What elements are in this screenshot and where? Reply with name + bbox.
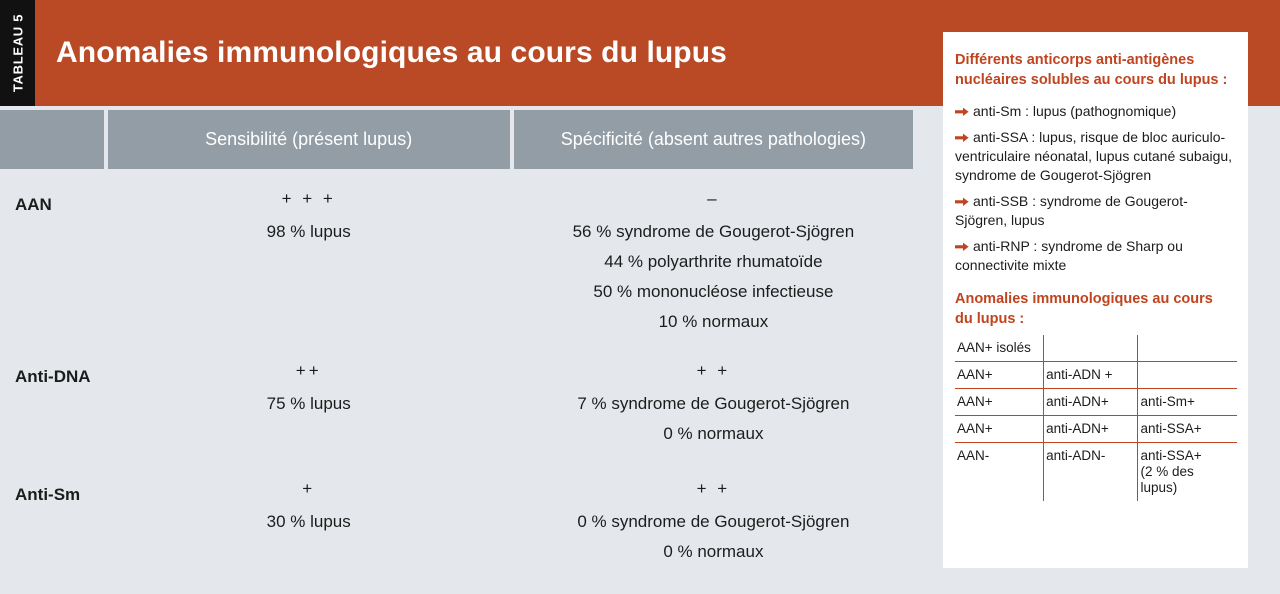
table-row: AAN+ anti-ADN + [955,362,1237,389]
table-row: AAN+ isolés [955,335,1237,362]
table-row: AAN- anti-ADN- anti-SSA+ (2 % des lupus) [955,443,1237,502]
side-panel-mini-table: AAN+ isolés AAN+ anti-ADN + AAN+ anti-AD… [955,335,1237,501]
main-table: Sensibilité (présent lupus) Spécificité … [0,110,913,594]
mini-cell-aan: AAN+ [955,362,1044,389]
cell-anti-dna-specificite: + + 7 % syndrome de Gougerot-Sjögren 0 %… [514,345,913,459]
mini-cell-other [1138,335,1237,362]
score-value: ++ [296,361,322,381]
cell-aan-sensibilite: + + + 98 % lupus [108,173,510,341]
mini-cell-aan: AAN- [955,443,1044,502]
score-value: + [302,479,315,499]
mini-cell-adn: anti-ADN+ [1044,416,1138,443]
arrow-bullet-icon [955,128,969,147]
mini-cell-adn: anti-ADN- [1044,443,1138,502]
table-row: AAN + + + 98 % lupus – 56 % syndrome de … [0,173,913,341]
row-label-aan: AAN [0,173,104,341]
detail-line: 56 % syndrome de Gougerot-Sjögren [573,217,855,247]
mini-cell-other: anti-SSA+ (2 % des lupus) [1138,443,1237,502]
table-row: AAN+ anti-ADN+ anti-SSA+ [955,416,1237,443]
detail-line: 44 % polyarthrite rhumatoïde [604,247,822,277]
score-value: + + [697,361,731,381]
table-row: AAN+ anti-ADN+ anti-Sm+ [955,389,1237,416]
detail-line: 75 % lupus [267,389,351,419]
list-item: anti-RNP : syndrome de Sharp ou connecti… [955,237,1234,275]
mini-cell-aan: AAN+ [955,416,1044,443]
cell-aan-specificite: – 56 % syndrome de Gougerot-Sjögren 44 %… [514,173,913,341]
detail-line: 30 % lupus [267,507,351,537]
mini-cell-aan: AAN+ isolés [955,335,1044,362]
header-cell-specificite: Spécificité (absent autres pathologies) [514,110,913,169]
cell-anti-sm-specificite: + + 0 % syndrome de Gougerot-Sjögren 0 %… [514,463,913,583]
page-root: Anomalies immunologiques au cours du lup… [0,0,1280,594]
list-item-label: anti-SSA : lupus, risque de bloc auricul… [955,129,1232,183]
tableau-badge-label: TABLEAU 5 [10,14,25,92]
detail-line: 10 % normaux [659,307,769,337]
table-row: Anti-DNA ++ 75 % lupus + + 7 % syndrome … [0,345,913,459]
list-item-label: anti-SSB : syndrome de Gougerot-Sjögren,… [955,193,1188,228]
detail-line: 0 % normaux [663,537,763,567]
table-header-row: Sensibilité (présent lupus) Spécificité … [0,110,913,169]
list-item: anti-Sm : lupus (pathognomique) [955,102,1234,121]
detail-line: 7 % syndrome de Gougerot-Sjögren [577,389,849,419]
mini-cell-other: anti-SSA+ [1138,416,1237,443]
detail-line: 0 % normaux [663,419,763,449]
list-item: anti-SSB : syndrome de Gougerot-Sjögren,… [955,192,1234,230]
mini-cell-other: anti-Sm+ [1138,389,1237,416]
header-cell-blank [0,110,104,169]
arrow-bullet-icon [955,102,969,121]
page-title: Anomalies immunologiques au cours du lup… [56,0,727,106]
detail-line: 50 % mononucléose infectieuse [593,277,833,307]
mini-cell-aan: AAN+ [955,389,1044,416]
cell-anti-dna-sensibilite: ++ 75 % lupus [108,345,510,459]
score-value: – [707,189,719,209]
row-label-anti-sm: Anti-Sm [0,463,104,583]
side-panel-heading-antibodies: Différents anticorps anti-antigènes nucl… [955,50,1234,90]
detail-line: 0 % syndrome de Gougerot-Sjögren [577,507,849,537]
score-value: + + + [282,189,336,209]
row-label-anti-dna: Anti-DNA [0,345,104,459]
mini-cell-other-main: anti-SSA+ [1140,448,1201,463]
mini-cell-adn [1044,335,1138,362]
detail-line: 98 % lupus [267,217,351,247]
header-cell-sensibilite: Sensibilité (présent lupus) [108,110,510,169]
mini-cell-adn: anti-ADN + [1044,362,1138,389]
arrow-bullet-icon [955,237,969,256]
list-item-label: anti-RNP : syndrome de Sharp ou connecti… [955,238,1183,273]
table-row: Anti-Sm + 30 % lupus + + 0 % syndrome de… [0,463,913,583]
mini-cell-other [1138,362,1237,389]
side-panel-heading-anomalies: Anomalies immunologiques au cours du lup… [955,289,1234,329]
mini-cell-other-note: (2 % des lupus) [1140,464,1231,496]
list-item: anti-SSA : lupus, risque de bloc auricul… [955,128,1234,185]
arrow-bullet-icon [955,192,969,211]
score-value: + + [697,479,731,499]
tableau-badge: TABLEAU 5 [0,0,35,106]
side-panel: Différents anticorps anti-antigènes nucl… [943,32,1248,568]
mini-cell-adn: anti-ADN+ [1044,389,1138,416]
list-item-label: anti-Sm : lupus (pathognomique) [973,103,1176,119]
cell-anti-sm-sensibilite: + 30 % lupus [108,463,510,583]
